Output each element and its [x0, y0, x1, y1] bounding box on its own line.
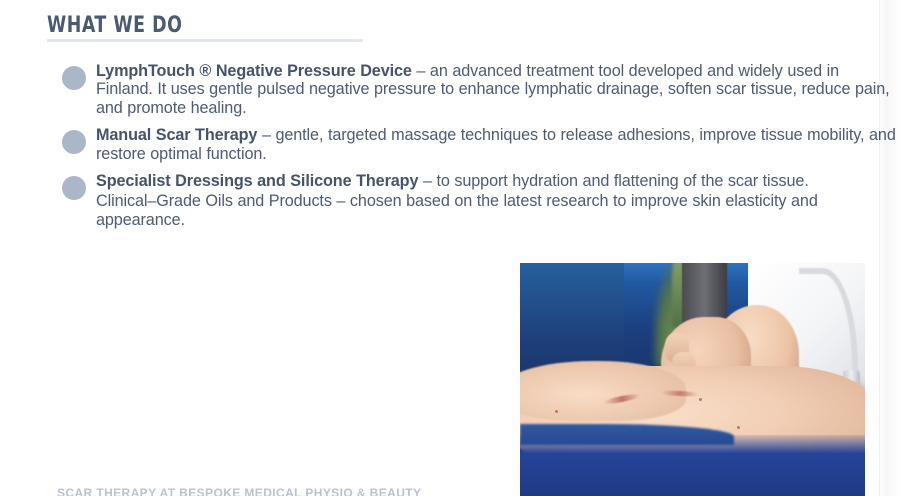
list-item-term: Specialist Dressings and Silicone Therap…	[96, 172, 418, 190]
treatment-photo	[520, 263, 865, 496]
list-item-text: Specialist Dressings and Silicone Therap…	[96, 172, 897, 229]
list-item: Specialist Dressings and Silicone Therap…	[62, 172, 897, 229]
bullet-dot-icon	[62, 130, 86, 154]
list-item-description: – to support hydration and flattening of…	[418, 172, 808, 190]
what-we-do-list: LymphTouch ® Negative Pressure Device – …	[62, 62, 897, 238]
slide-footer: SCAR THERAPY AT BESPOKE MEDICAL PHYSIO &…	[57, 487, 421, 496]
bullet-dot-icon	[62, 66, 86, 90]
page-title: WHAT WE DO	[47, 13, 329, 39]
bullet-dot-icon	[62, 176, 86, 200]
list-item: LymphTouch ® Negative Pressure Device – …	[62, 62, 897, 117]
heading-block: WHAT WE DO	[47, 13, 367, 39]
list-item-text: LymphTouch ® Negative Pressure Device – …	[96, 62, 897, 117]
list-item-term: LymphTouch ® Negative Pressure Device	[96, 62, 412, 80]
list-item-extra: Clinical–Grade Oils and Products – chose…	[96, 192, 897, 229]
list-item: Manual Scar Therapy – gentle, targeted m…	[62, 126, 897, 163]
list-item-text: Manual Scar Therapy – gentle, targeted m…	[96, 126, 897, 163]
treatment-photo-image	[520, 263, 865, 496]
list-item-term: Manual Scar Therapy	[96, 126, 257, 144]
slide-canvas: WHAT WE DO LymphTouch ® Negative Pressur…	[0, 0, 902, 496]
heading-divider	[47, 39, 363, 42]
page-edge-line	[879, 0, 880, 496]
